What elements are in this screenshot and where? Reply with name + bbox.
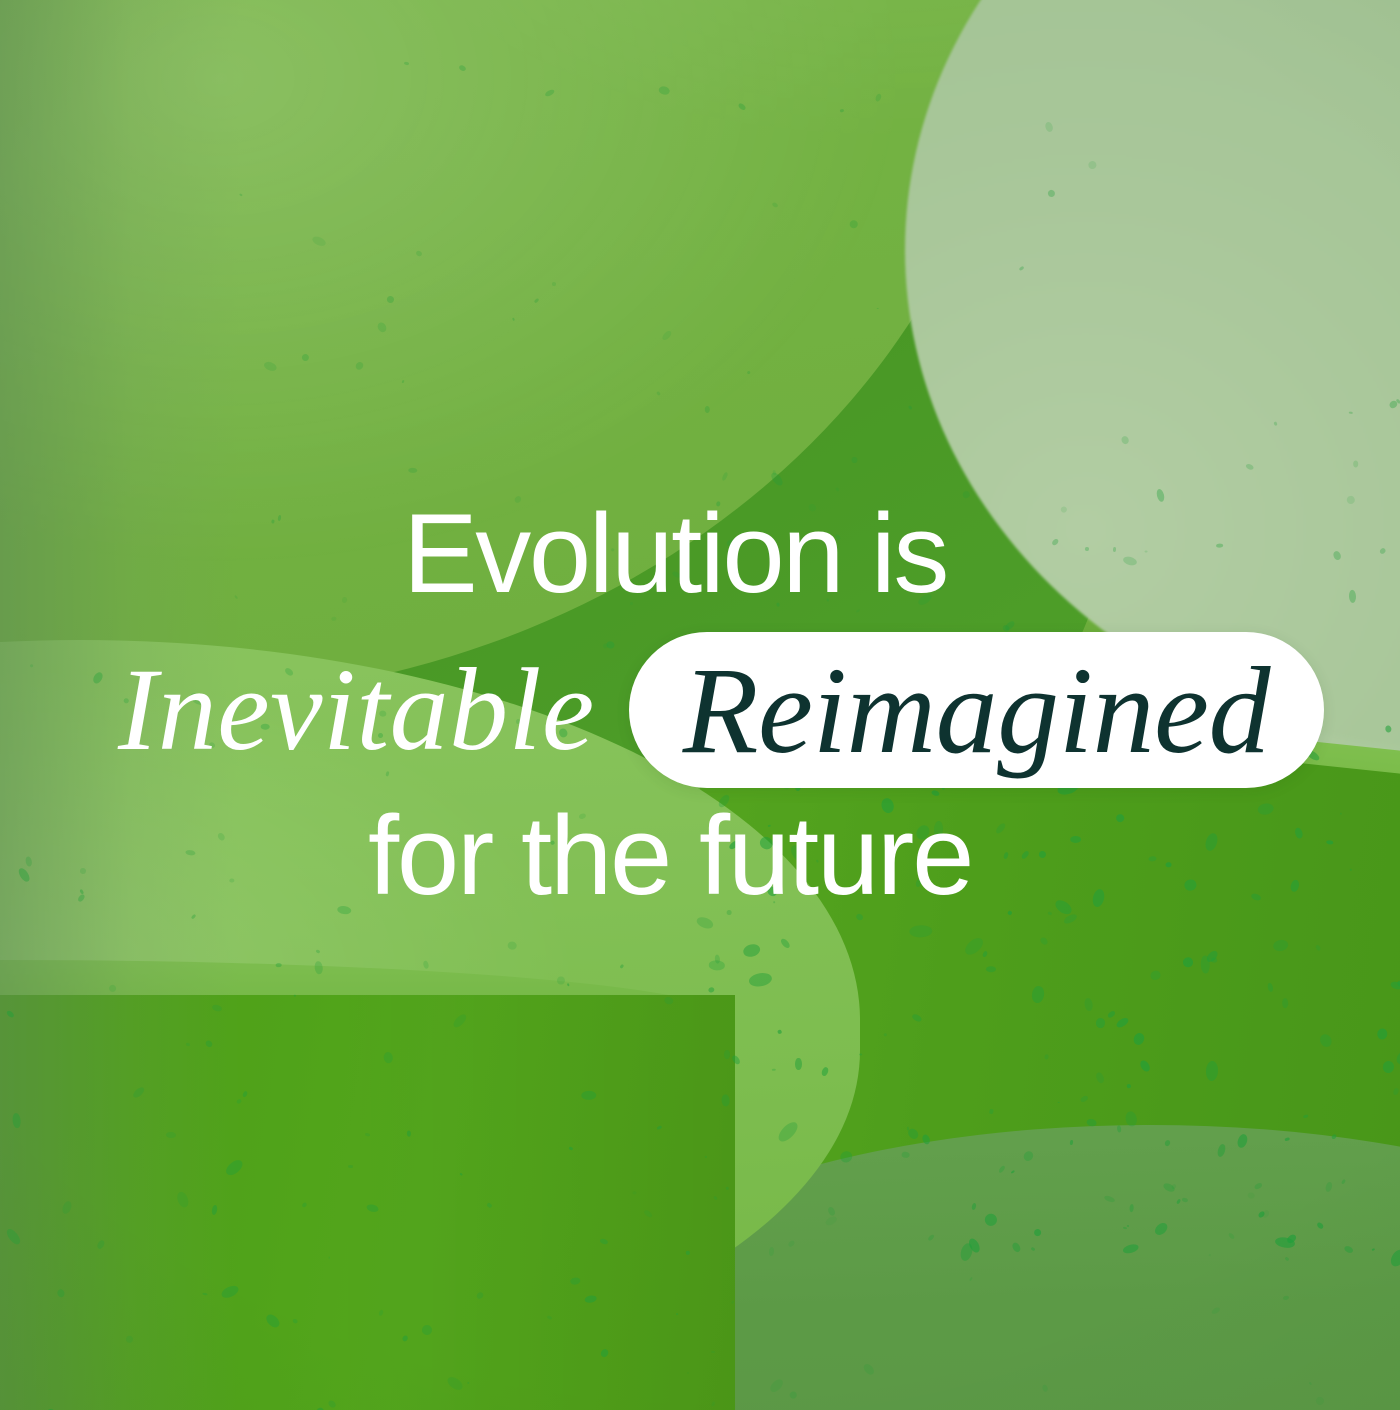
headline-word-reimagined: Reimagined: [683, 649, 1270, 773]
headline-line-1: Evolution is: [403, 498, 947, 610]
hero-banner: Evolution is Inevitable Reimagined for t…: [0, 0, 1400, 1410]
headline-word-inevitable: Inevitable: [118, 651, 629, 769]
highlight-pill: Reimagined: [629, 632, 1324, 788]
headline-line-2: Inevitable Reimagined: [118, 632, 1324, 788]
headline-block: Evolution is Inevitable Reimagined for t…: [0, 0, 1400, 1410]
headline-line-3: for the future: [368, 800, 972, 912]
